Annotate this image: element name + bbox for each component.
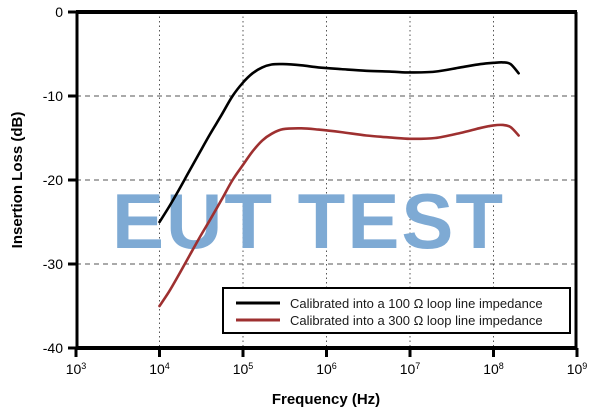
legend-label-300-ohm: Calibrated into a 300 Ω loop line impeda…	[290, 313, 543, 328]
watermark: EUT TEST	[112, 177, 505, 265]
chart-legend: Calibrated into a 100 Ω loop line impeda…	[223, 288, 570, 333]
legend-label-100-ohm: Calibrated into a 100 Ω loop line impeda…	[290, 296, 543, 311]
chart-figure: EUT TEST 103104105106107108109 0-10-20-3…	[0, 0, 600, 418]
insertion-loss-chart: EUT TEST 103104105106107108109 0-10-20-3…	[0, 0, 600, 418]
y-axis-title: Insertion Loss (dB)	[9, 112, 26, 249]
y-tick-label: -10	[43, 88, 63, 104]
x-axis-title: Frequency (Hz)	[272, 391, 380, 408]
y-tick-label: -30	[43, 256, 63, 272]
y-tick-label: -40	[43, 340, 63, 356]
y-tick-label: 0	[55, 4, 63, 20]
watermark-label: EUT TEST	[112, 177, 505, 265]
y-tick-label: -20	[43, 172, 63, 188]
